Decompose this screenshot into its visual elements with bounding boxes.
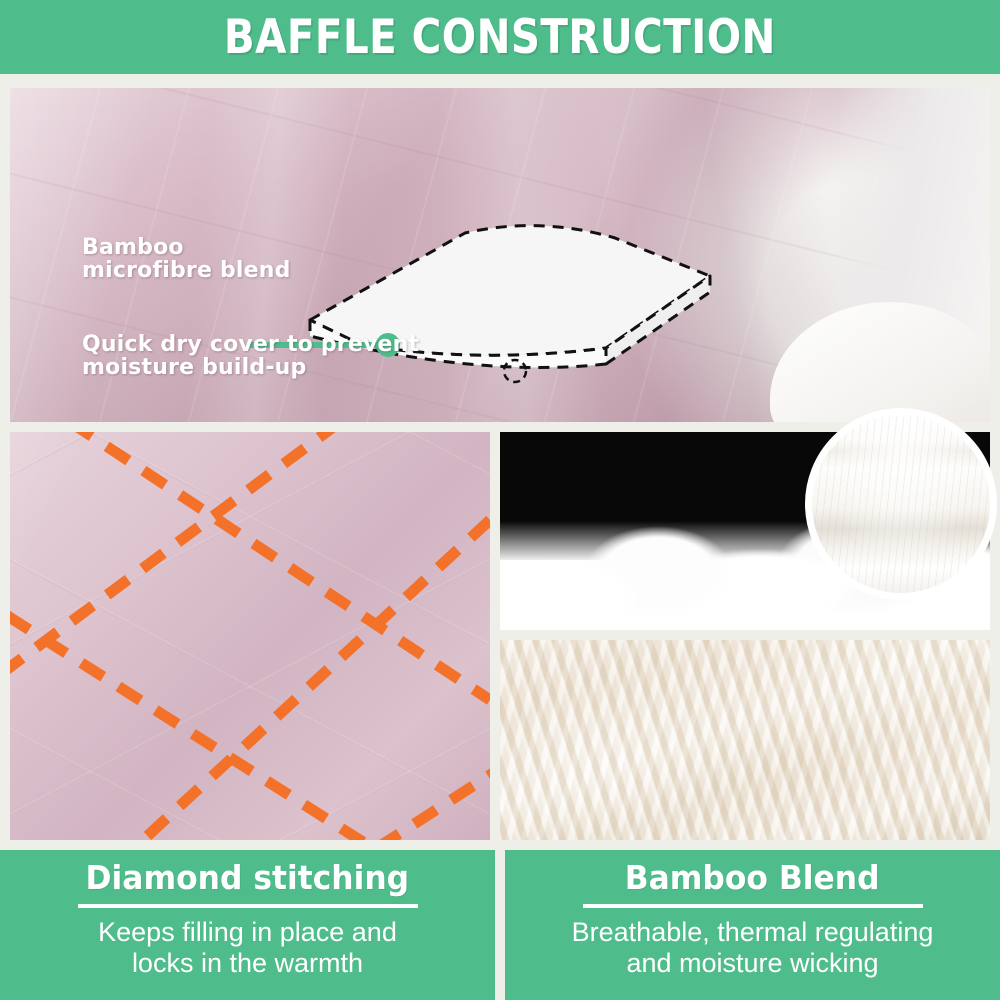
card-bamboo-blend: Bamboo Blend Breathable, thermal regulat… xyxy=(505,850,1000,1000)
callout-label-quick-dry-cover: Quick dry cover to prevent moisture buil… xyxy=(82,333,419,379)
diamond-stitching-photo xyxy=(10,432,490,840)
callout-label-bamboo-microfibre-blend: Bamboo microfibre blend xyxy=(82,236,291,282)
card-subtitle-bamboo-blend: Breathable, thermal regulating and moist… xyxy=(572,917,934,979)
page-title: BAFFLE CONSTRUCTION xyxy=(224,14,776,61)
bamboo-fibre-photo xyxy=(500,640,990,840)
diamond-line-down-1 xyxy=(70,432,490,700)
header-banner: BAFFLE CONSTRUCTION xyxy=(0,0,1000,74)
card-subtitle-diamond-stitching: Keeps filling in place and locks in the … xyxy=(98,917,397,979)
diamond-overlay-lines xyxy=(10,432,490,840)
batting-layers-texture xyxy=(812,415,990,593)
bamboo-fibre-strands-texture xyxy=(500,640,990,840)
infographic-page: BAFFLE CONSTRUCTION Bamboo microfibre bl… xyxy=(0,0,1000,1000)
diamond-line-up-2 xyxy=(130,520,490,840)
card-divider xyxy=(78,904,418,908)
card-title-diamond-stitching: Diamond stitching xyxy=(86,859,410,897)
diamond-line-up-3 xyxy=(340,762,490,840)
card-title-bamboo-blend: Bamboo Blend xyxy=(625,859,880,897)
batting-inset-circle xyxy=(805,408,997,600)
card-diamond-stitching: Diamond stitching Keeps filling in place… xyxy=(0,850,495,1000)
card-divider xyxy=(583,904,923,908)
diamond-line-down-2 xyxy=(10,592,410,840)
